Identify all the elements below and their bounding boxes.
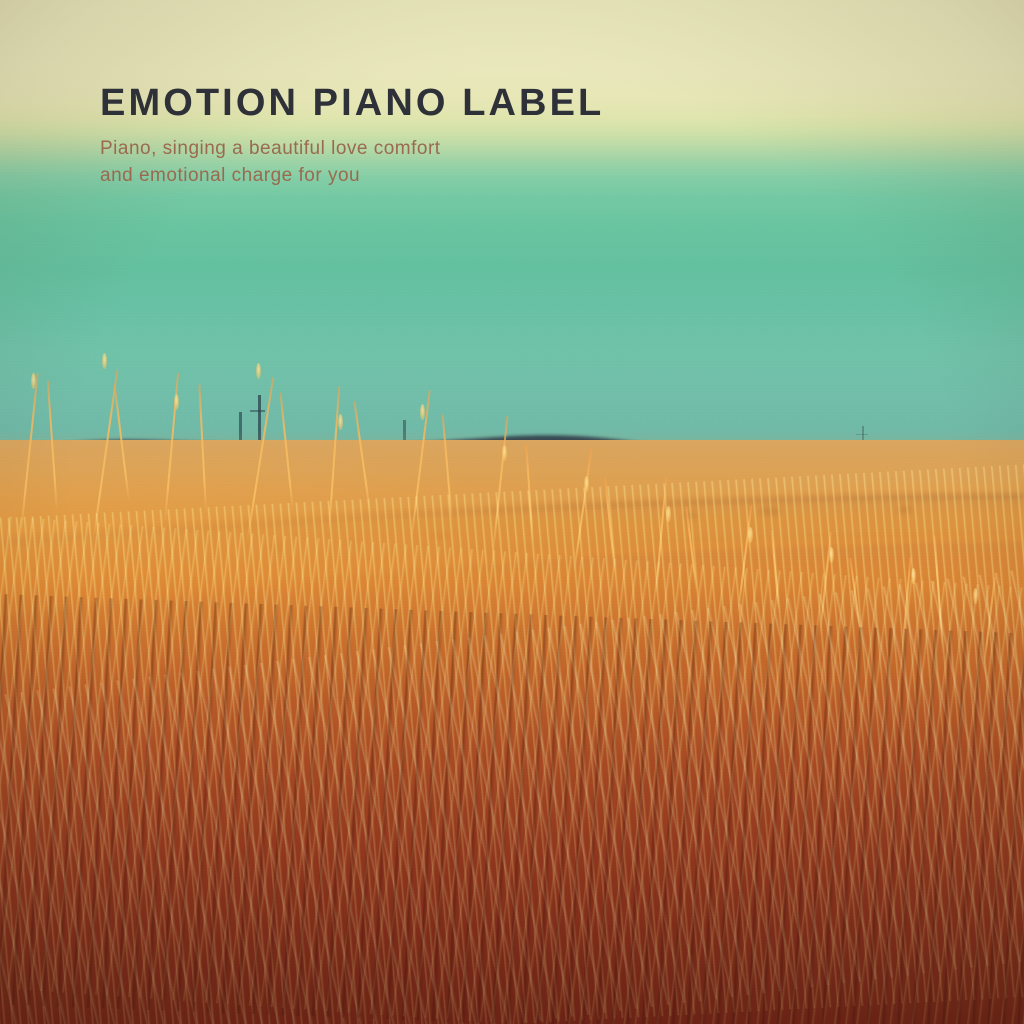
album-subtitle: Piano, singing a beautiful love comfort … bbox=[100, 136, 604, 190]
sky-gradient bbox=[0, 0, 1024, 492]
album-subtitle-line-2: and emotional charge for you bbox=[100, 163, 604, 190]
album-title: EMOTION PIANO LABEL bbox=[100, 84, 604, 124]
album-cover: EMOTION PIANO LABEL Piano, singing a bea… bbox=[0, 0, 1024, 1024]
album-subtitle-line-1: Piano, singing a beautiful love comfort bbox=[100, 136, 604, 163]
ground-fields bbox=[0, 440, 1024, 1024]
cover-text-block: EMOTION PIANO LABEL Piano, singing a bea… bbox=[100, 84, 604, 190]
